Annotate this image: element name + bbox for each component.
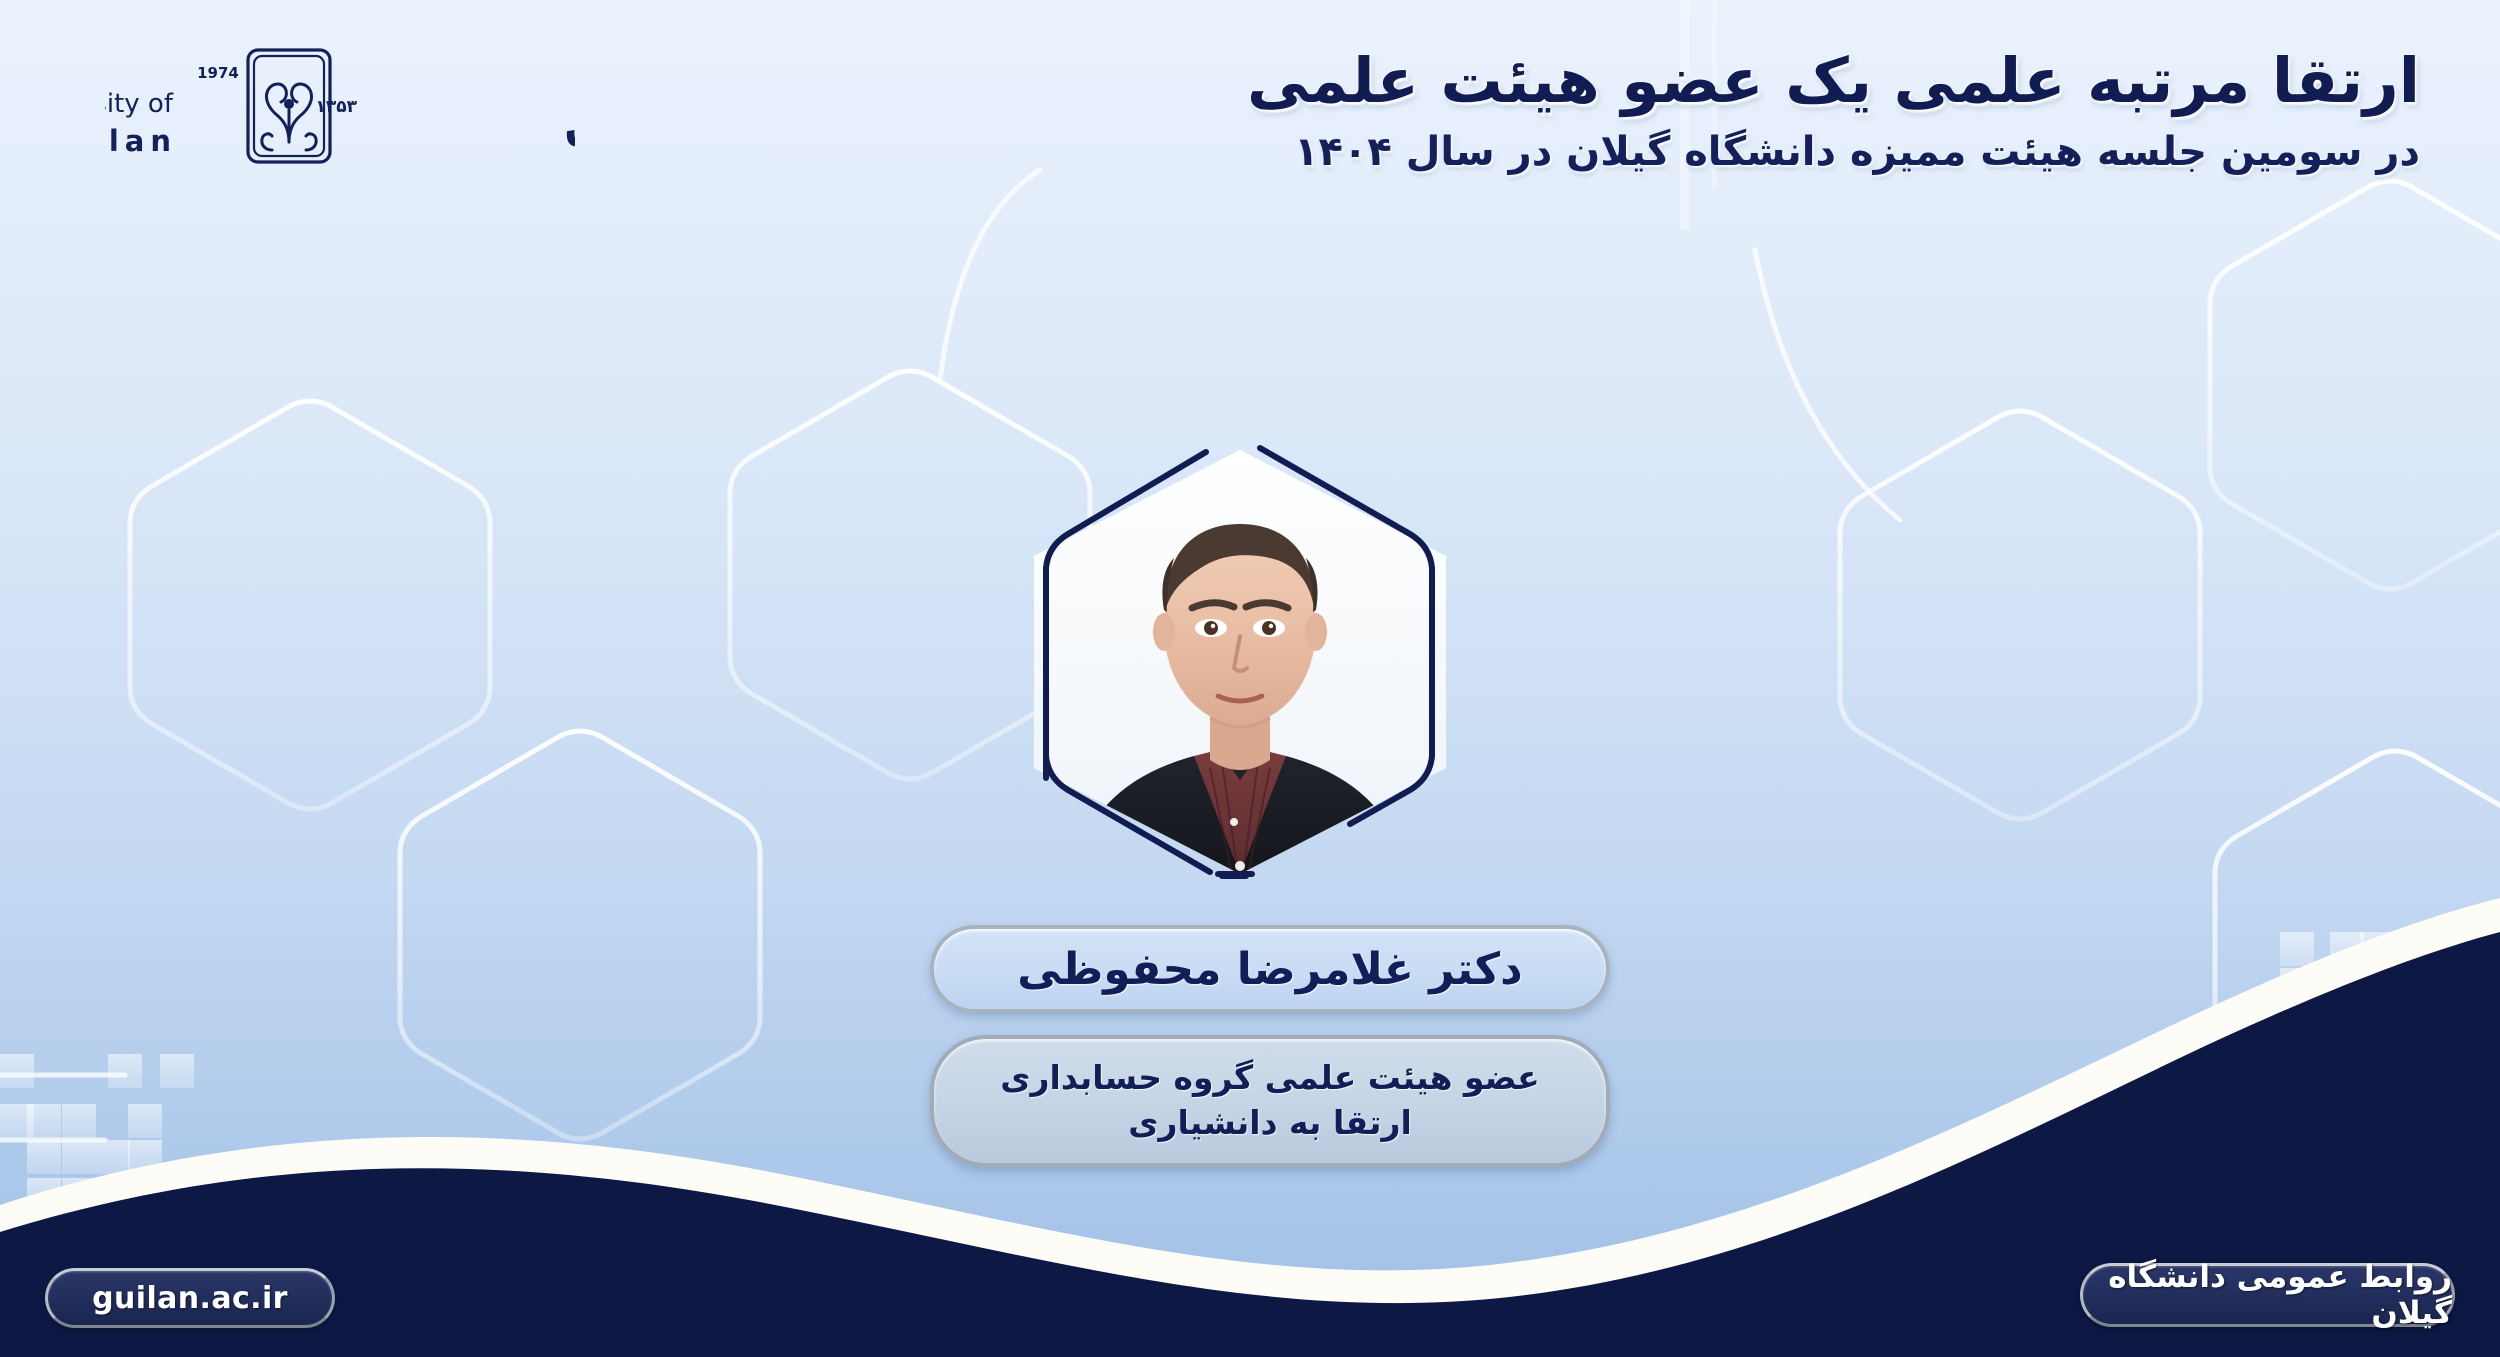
poster-canvas: 1974 University of Guilan ۱۳۵۳ دانشگاه گ… bbox=[0, 0, 2500, 1357]
hexagon-outline-group-right bbox=[1840, 181, 2500, 1159]
page-subtitle: در سومین جلسه هیئت ممیزه دانشگاه گیلان د… bbox=[940, 126, 2420, 178]
logo-year-persian: ۱۳۵۳ bbox=[315, 97, 357, 117]
person-role-badge: عضو هیئت علمی گروه حسابداری ارتقا به دان… bbox=[930, 1035, 1610, 1167]
university-logo: 1974 University of Guilan ۱۳۵۳ دانشگاه گ… bbox=[105, 38, 575, 173]
logo-year-latin: 1974 bbox=[197, 64, 239, 82]
page-title: ارتقا مرتبه علمی یک عضو هیئت علمی bbox=[940, 42, 2420, 120]
logo-english-line2: Guilan bbox=[105, 124, 177, 158]
public-relations-label: روابط عمومی دانشگاه گیلان bbox=[2083, 1259, 2452, 1331]
portrait-frame bbox=[1010, 428, 1470, 896]
person-name: دکتر غلامرضا محفوظی bbox=[1017, 944, 1522, 995]
hexagon-outline-group-left bbox=[130, 371, 1090, 1139]
square-grid-right bbox=[2280, 932, 2494, 1104]
public-relations-badge: روابط عمومی دانشگاه گیلان bbox=[2080, 1263, 2455, 1327]
logo-english-line1: University of bbox=[105, 89, 174, 119]
website-badge[interactable]: guilan.ac.ir bbox=[45, 1268, 335, 1328]
hexagon-border-icon bbox=[1010, 428, 1470, 896]
website-url: guilan.ac.ir bbox=[92, 1281, 288, 1316]
person-role-line1: عضو هیئت علمی گروه حسابداری bbox=[1000, 1056, 1539, 1101]
person-role-line2: ارتقا به دانشیاری bbox=[1128, 1101, 1412, 1146]
person-name-badge: دکتر غلامرضا محفوظی bbox=[930, 925, 1610, 1013]
square-grid-left bbox=[0, 1054, 194, 1252]
logo-persian-name: دانشگاه گیلان bbox=[559, 55, 575, 153]
header-titles: ارتقا مرتبه علمی یک عضو هیئت علمی در سوم… bbox=[940, 42, 2420, 178]
guilan-university-logo-icon: 1974 University of Guilan ۱۳۵۳ دانشگاه گ… bbox=[105, 38, 575, 173]
